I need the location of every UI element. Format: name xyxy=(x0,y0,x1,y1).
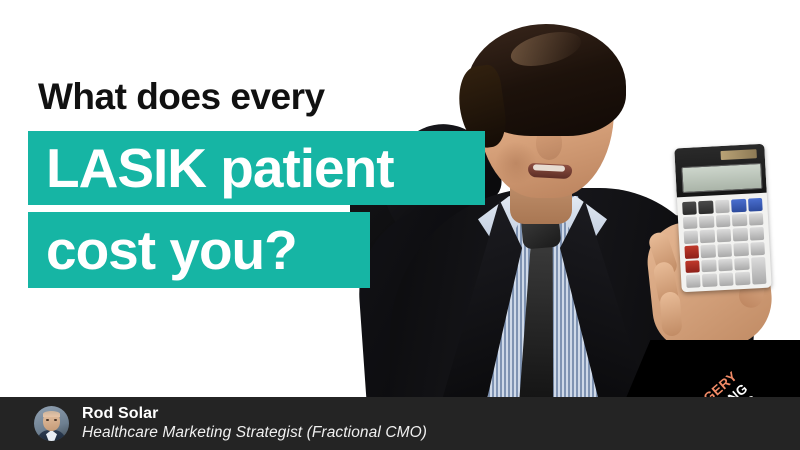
calculator-icon xyxy=(674,144,771,293)
avatar-eye-left xyxy=(46,419,49,421)
headline-line-2: LASIK patient xyxy=(28,131,485,205)
calculator-display xyxy=(681,163,762,193)
calculator-solar-cell xyxy=(720,149,756,160)
author-role: Healthcare Marketing Strategist (Fractio… xyxy=(82,424,427,442)
author-bar: Rod Solar Healthcare Marketing Strategis… xyxy=(0,397,800,450)
avatar-eye-right xyxy=(54,419,57,421)
author-text: Rod Solar Healthcare Marketing Strategis… xyxy=(82,405,427,442)
finger xyxy=(659,291,682,336)
promo-graphic: What does every LASIK patient cost you? … xyxy=(0,0,800,450)
avatar-hairline xyxy=(43,411,60,417)
avatar xyxy=(34,406,69,441)
headline-line-3: cost you? xyxy=(28,212,370,288)
headline-line-1: What does every xyxy=(38,78,325,115)
author-name: Rod Solar xyxy=(82,405,427,424)
calculator-keypad xyxy=(682,198,766,288)
